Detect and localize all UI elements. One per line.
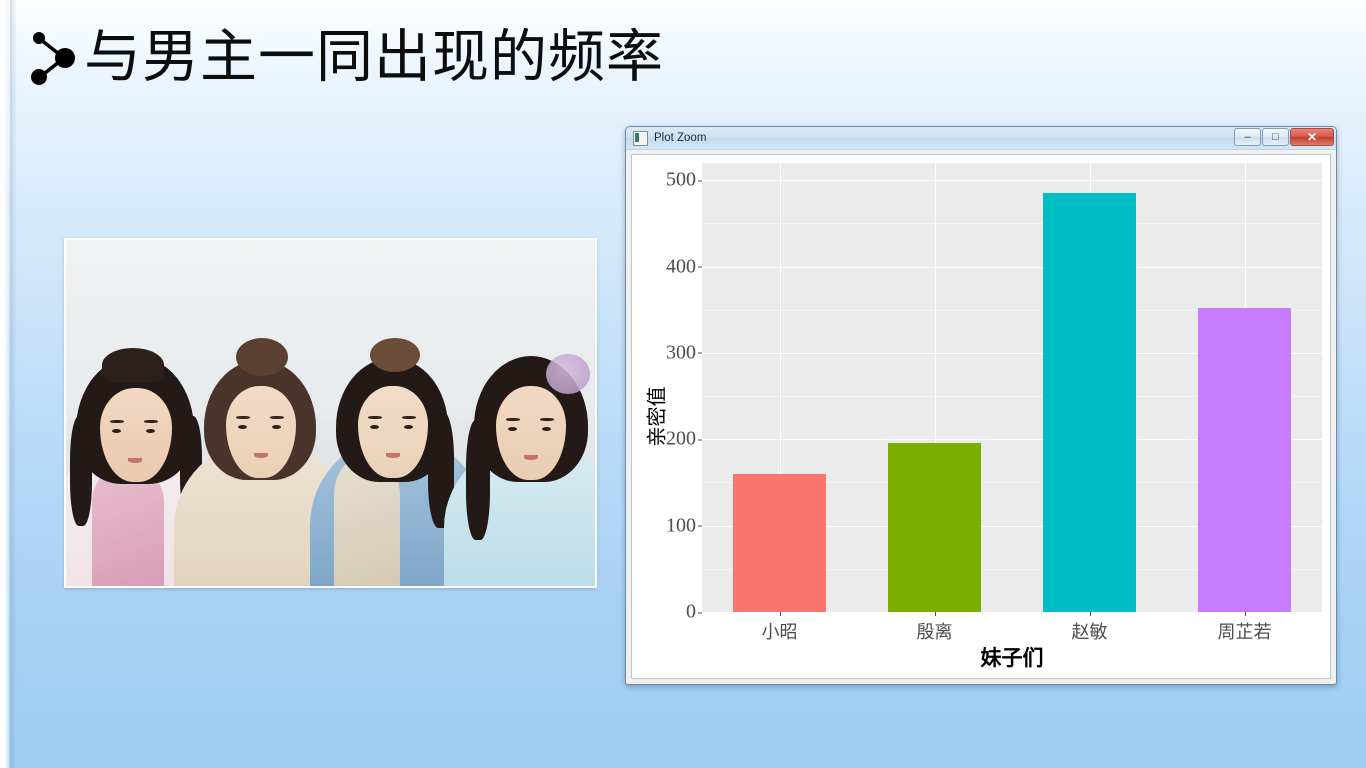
- y-tick-300: 300: [666, 341, 696, 364]
- close-icon: ✕: [1291, 129, 1333, 145]
- y-tick-0: 0: [686, 601, 696, 624]
- chart-plot-panel: [702, 163, 1322, 612]
- x-tick-mark: [1245, 612, 1246, 616]
- slide-title-block: 与男主一同出现的频率: [26, 27, 664, 89]
- x-tick-mark: [1090, 612, 1091, 616]
- plot-window-app-icon: [633, 131, 648, 146]
- y-tick-200: 200: [666, 428, 696, 451]
- network-share-icon: [26, 27, 82, 89]
- y-axis-tick-labels: 0100200300400500: [662, 155, 702, 678]
- window-titlebar[interactable]: Plot Zoom – □ ✕: [626, 127, 1336, 150]
- x-tick-殷离: 殷离: [917, 618, 953, 644]
- x-axis-tick-labels: 小昭殷离赵敏周芷若: [702, 612, 1322, 638]
- bar-赵敏: [1043, 193, 1136, 612]
- maximize-button[interactable]: □: [1262, 128, 1289, 146]
- window-client-area: 亲密值 0100200300400500 小昭殷离赵敏周芷若 妹子们: [631, 154, 1331, 679]
- x-tick-周芷若: 周芷若: [1218, 618, 1272, 644]
- maximize-icon: □: [1263, 129, 1288, 145]
- minimize-icon: –: [1235, 129, 1260, 145]
- bar-chart: 亲密值 0100200300400500 小昭殷离赵敏周芷若 妹子们: [632, 155, 1330, 678]
- x-tick-mark: [780, 612, 781, 616]
- bar-小昭: [733, 474, 826, 612]
- slide-left-accent-strip: [0, 0, 10, 768]
- x-tick-mark: [935, 612, 936, 616]
- window-title: Plot Zoom: [654, 132, 706, 144]
- x-axis-label: 妹子们: [702, 642, 1322, 672]
- gridline-major: [702, 267, 1322, 268]
- y-tick-100: 100: [666, 514, 696, 537]
- minimize-button[interactable]: –: [1234, 128, 1261, 146]
- x-tick-小昭: 小昭: [762, 618, 798, 644]
- group-photo-image: [66, 240, 595, 586]
- close-button[interactable]: ✕: [1290, 128, 1334, 146]
- page-title: 与男主一同出现的频率: [84, 27, 664, 89]
- bar-周芷若: [1198, 308, 1291, 612]
- y-tick-500: 500: [666, 169, 696, 192]
- plot-zoom-window[interactable]: Plot Zoom – □ ✕ 亲密值 0100200300400500: [625, 126, 1337, 685]
- window-control-buttons[interactable]: – □ ✕: [1233, 128, 1334, 146]
- photo-frame: [64, 238, 597, 588]
- gridline-minor: [702, 223, 1322, 224]
- y-tick-400: 400: [666, 255, 696, 278]
- slide-left-accent-shadow: [10, 0, 17, 768]
- bar-殷离: [888, 443, 981, 612]
- slide-canvas: 与男主一同出现的频率: [0, 0, 1366, 768]
- gridline-major: [702, 180, 1322, 181]
- x-tick-赵敏: 赵敏: [1072, 618, 1108, 644]
